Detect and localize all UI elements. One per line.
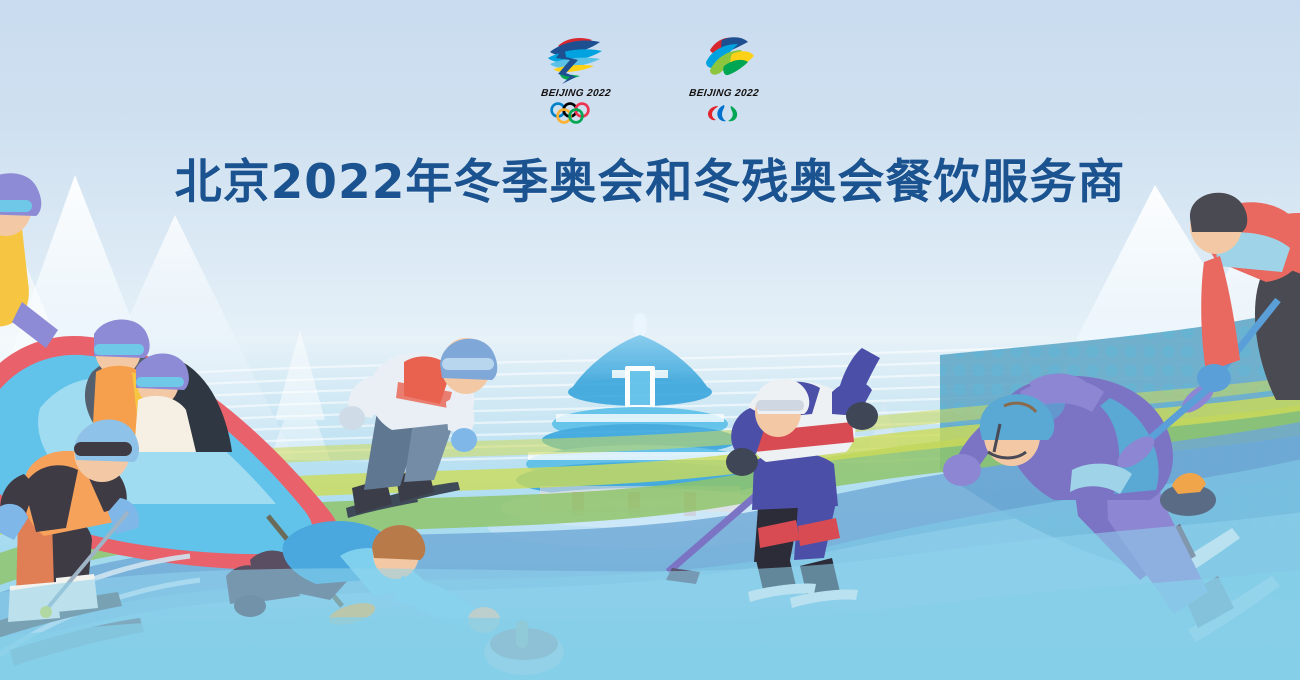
olympic-rings-icon — [546, 102, 606, 124]
olympic-emblem-wordmark: BEIJING 2022 — [540, 88, 611, 99]
paralympic-winter-games-emblem: BEIJING 2022 — [681, 30, 767, 124]
olympic-sponsor-banner: BEIJING 2022 BEIJING 2022 — [0, 0, 1300, 680]
olympic-winter-games-emblem: BEIJING 2022 — [533, 30, 619, 124]
page-title: 北京2022年冬季奥会和冬残奥会餐饮服务商 — [0, 143, 1300, 212]
emblem-row: BEIJING 2022 BEIJING 2022 — [0, 30, 1300, 124]
paralympic-emblem-wordmark: BEIJING 2022 — [688, 88, 759, 99]
paralympic-agitos-icon — [694, 102, 754, 124]
beijing-2022-winter-olympic-mark — [536, 30, 616, 85]
beijing-2022-winter-paralympic-mark — [684, 30, 764, 85]
